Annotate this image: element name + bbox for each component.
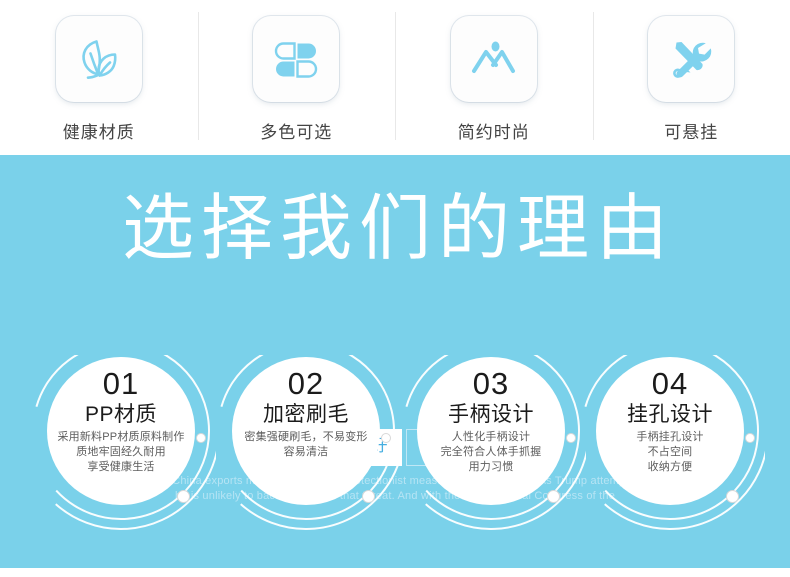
benefit-card-title: 加密刷毛 — [263, 402, 349, 427]
benefit-card-title: 手柄设计 — [448, 402, 534, 427]
benefit-card-description-line: 不占空间 — [636, 445, 703, 460]
benefit-card-body: 02 加密刷毛 密集强硬刷毛，不易变形 容易清洁 — [232, 357, 380, 505]
product-detail-banner: 健康材质 多色可选 — [0, 0, 790, 577]
benefit-card-description-line: 质地牢固经久耐用 — [57, 445, 184, 460]
benefit-card-03[interactable]: 03 手柄设计 人性化手柄设计 完全符合人体手抓握 用力习惯 — [396, 355, 586, 568]
benefit-card-body: 04 挂孔设计 手柄挂孔设计 不占空间 收纳方便 — [596, 357, 744, 505]
feature-strip: 健康材质 多色可选 — [0, 0, 790, 155]
benefit-card-description-line: 手柄挂孔设计 — [636, 430, 703, 445]
benefit-card-description-line: 人性化手柄设计 — [441, 430, 542, 445]
benefit-card-description-line: 密集强硬刷毛，不易变形 — [244, 430, 367, 445]
feature-item-label: 简约时尚 — [458, 118, 530, 143]
benefit-card-body: 01 PP材质 采用新料PP材质原料制作 质地牢固经久耐用 享受健康生活 — [47, 357, 195, 505]
clover-icon — [253, 16, 339, 102]
benefit-card-01[interactable]: 01 PP材质 采用新料PP材质原料制作 质地牢固经久耐用 享受健康生活 — [26, 355, 216, 568]
benefit-card-description-line: 采用新料PP材质原料制作 — [57, 430, 184, 445]
benefit-card-description: 采用新料PP材质原料制作 质地牢固经久耐用 享受健康生活 — [57, 430, 184, 475]
promo-panel: 选择我们的理由 清洁能力好 用途广泛 JiechiChina exports m… — [0, 155, 790, 568]
page-title: 选择我们的理由 — [0, 190, 790, 268]
feature-item-health-material[interactable]: 健康材质 — [0, 0, 198, 155]
benefit-card-description: 手柄挂孔设计 不占空间 收纳方便 — [636, 430, 703, 475]
benefit-card-number: 03 — [473, 367, 509, 401]
mountain-icon — [451, 16, 537, 102]
benefit-card-title: 挂孔设计 — [627, 402, 713, 427]
feature-item-simple-fashion[interactable]: 简约时尚 — [395, 0, 593, 155]
card-dot — [547, 490, 560, 503]
tools-icon — [648, 16, 734, 102]
feature-item-label: 健康材质 — [63, 118, 135, 143]
feature-item-hangable[interactable]: 可悬挂 — [593, 0, 790, 155]
feature-item-label: 可悬挂 — [664, 118, 718, 143]
card-dot — [745, 433, 755, 443]
benefit-card-02[interactable]: 02 加密刷毛 密集强硬刷毛，不易变形 容易清洁 — [211, 355, 401, 568]
benefit-card-number: 04 — [652, 367, 688, 401]
card-dot — [177, 490, 190, 503]
benefit-card-description-line: 用力习惯 — [441, 460, 542, 475]
benefit-card-description-line: 完全符合人体手抓握 — [441, 445, 542, 460]
benefit-card-body: 03 手柄设计 人性化手柄设计 完全符合人体手抓握 用力习惯 — [417, 357, 565, 505]
benefit-card-description: 人性化手柄设计 完全符合人体手抓握 用力习惯 — [441, 430, 542, 475]
benefit-card-number: 02 — [288, 367, 324, 401]
feature-item-multi-color[interactable]: 多色可选 — [198, 0, 396, 155]
benefit-card-description-line: 收纳方便 — [636, 460, 703, 475]
bottom-spacer — [0, 568, 790, 577]
feature-item-label: 多色可选 — [260, 118, 332, 143]
benefit-card-description-line: 容易清洁 — [244, 445, 367, 460]
benefit-card-group: 01 PP材质 采用新料PP材质原料制作 质地牢固经久耐用 享受健康生活 — [0, 355, 790, 568]
benefit-card-04[interactable]: 04 挂孔设计 手柄挂孔设计 不占空间 收纳方便 — [575, 355, 765, 568]
leaf-icon — [56, 16, 142, 102]
card-dot — [381, 433, 391, 443]
benefit-card-description-line: 享受健康生活 — [57, 460, 184, 475]
card-dot — [726, 490, 739, 503]
benefit-card-description: 密集强硬刷毛，不易变形 容易清洁 — [244, 430, 367, 460]
card-dot — [196, 433, 206, 443]
benefit-card-title: PP材质 — [85, 402, 157, 427]
benefit-card-number: 01 — [103, 367, 139, 401]
card-dot — [362, 490, 375, 503]
